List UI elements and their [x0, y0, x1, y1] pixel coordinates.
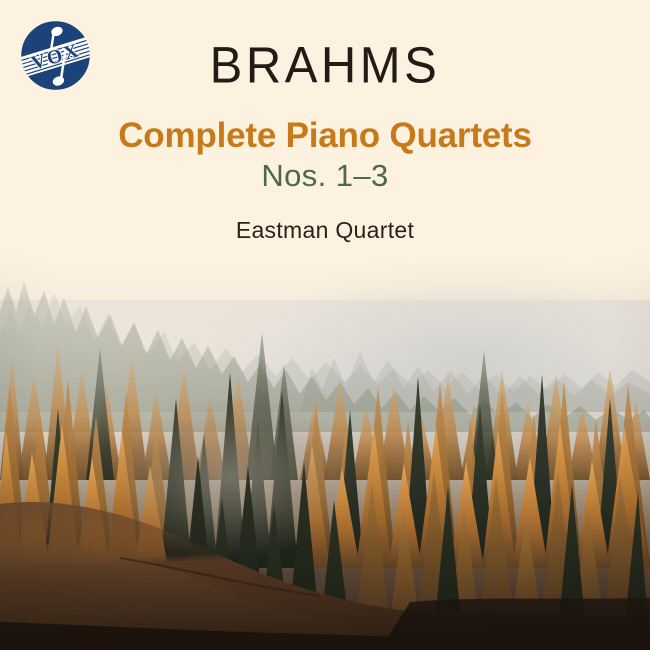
- vox-records-logo[interactable]: VOX: [19, 19, 92, 92]
- work-title: Complete Piano Quartets: [0, 117, 650, 154]
- album-cover: VOX BRAHMS Complete Piano Quartets Nos. …: [0, 0, 650, 650]
- performer-name: Eastman Quartet: [0, 219, 650, 242]
- vox-logo-mark: VOX: [19, 19, 92, 92]
- meadow-hillside: [0, 450, 650, 650]
- cover-text-block: BRAHMS Complete Piano Quartets Nos. 1–3 …: [0, 0, 650, 242]
- work-numbers: Nos. 1–3: [0, 160, 650, 193]
- composer-name: BRAHMS: [0, 41, 650, 92]
